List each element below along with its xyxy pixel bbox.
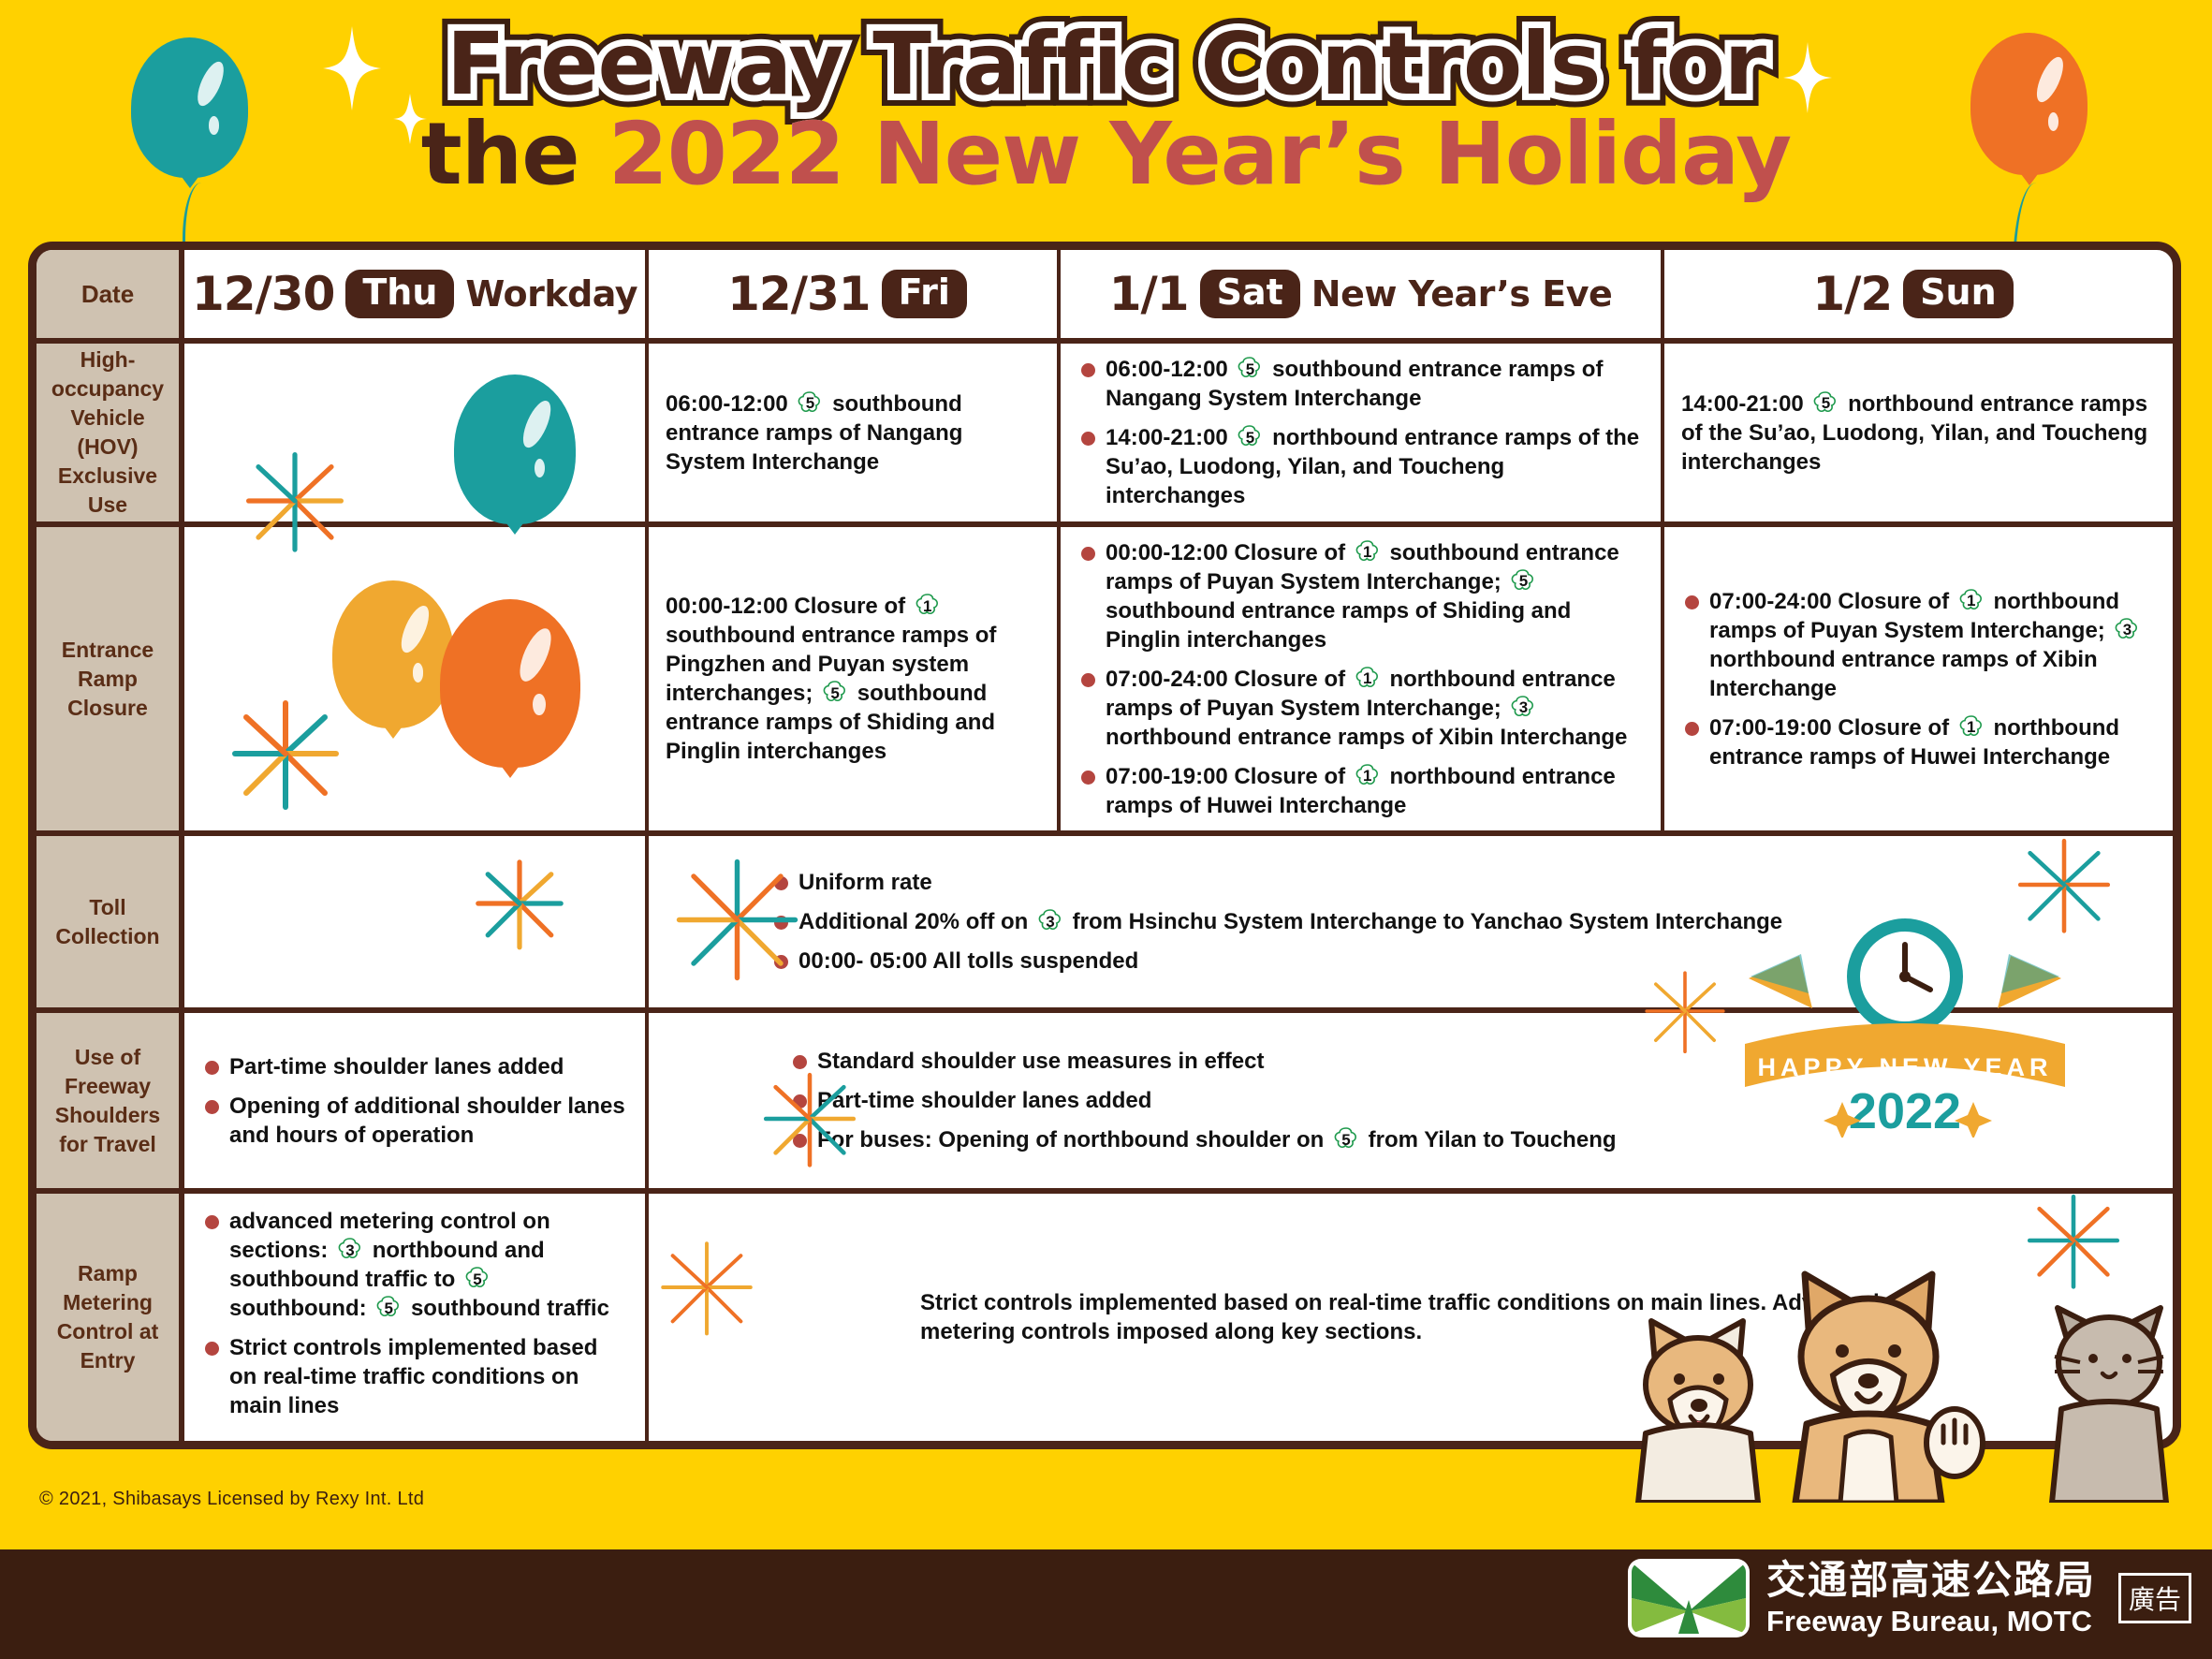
motc-logo-icon	[1628, 1559, 1750, 1637]
list-item: 07:00-24:00 Closure of 1 northbound entr…	[1077, 665, 1644, 752]
col-date-4: 1/2	[1812, 267, 1892, 321]
col-date-3: 1/1	[1109, 267, 1189, 321]
list-item: Strict controls implemented based on rea…	[201, 1333, 628, 1420]
list-item: 07:00-19:00 Closure of 1 northbound entr…	[1077, 762, 1644, 820]
freeway-badge-5: 5	[1811, 390, 1839, 417]
ad-label: 廣告	[2118, 1573, 2191, 1623]
sparkle-icon	[323, 26, 381, 110]
freeway-badge-1: 1	[1957, 588, 1985, 614]
balloon-orange-top	[1970, 33, 2087, 175]
cell-hov-0101: 06:00-12:00 5 southbound entrance ramps …	[1061, 344, 1664, 521]
agency-name-en: Freeway Bureau, MOTC	[1766, 1607, 2096, 1636]
ny-ribbon-text: HAPPY NEW YEAR	[1757, 1053, 2052, 1081]
agency-name: 交通部高速公路局 Freeway Bureau, MOTC	[1766, 1561, 2096, 1636]
list-item: Uniform rate	[770, 868, 2146, 897]
cat-mascot	[2052, 1308, 2166, 1503]
row-label-shoulders: Use of Freeway Shoulders for Travel	[37, 1013, 184, 1188]
list-item: advanced metering control on sections: 3…	[201, 1207, 628, 1323]
list-item: 07:00-19:00 Closure of 1 northbound entr…	[1681, 713, 2156, 771]
freeway-badge-3: 3	[2113, 617, 2141, 643]
happy-new-year-badge: HAPPY NEW YEAR 2022	[1722, 903, 2087, 1138]
freeway-badge-1: 1	[1957, 714, 1985, 741]
col-header-3: 1/1 Sat New Year’s Eve	[1061, 250, 1664, 338]
corgi-mascot	[1638, 1321, 1758, 1503]
freeway-badge-1: 1	[1354, 539, 1382, 565]
table-row-hov: High-occupancy Vehicle (HOV) Exclusive U…	[37, 344, 2173, 527]
ny-year-text: 2022	[1849, 1083, 1961, 1138]
balloon-teal-mid	[454, 374, 576, 524]
list-item: Opening of additional shoulder lanes and…	[201, 1092, 628, 1150]
sparkle-icon	[1783, 42, 1832, 113]
freeway-badge-3: 3	[1509, 695, 1537, 721]
list-item: 07:00-24:00 Closure of 1 northbound ramp…	[1681, 587, 2156, 703]
list-item: Part-time shoulder lanes added	[201, 1052, 628, 1081]
col-header-4: 1/2 Sun	[1664, 250, 2173, 338]
agency-name-cn: 交通部高速公路局	[1766, 1561, 2096, 1600]
freeway-badge-5: 5	[1236, 424, 1264, 450]
col-date-1: 12/30	[192, 267, 334, 321]
freeway-badge-5: 5	[1509, 568, 1537, 595]
freeway-badge-5: 5	[796, 390, 824, 417]
sparkle-icon	[393, 94, 427, 144]
title-line-2: the 2022 New Year’s Holiday	[421, 107, 1791, 202]
list-item: 00:00-12:00 Closure of 1 southbound entr…	[1077, 538, 1644, 654]
balloon-teal-top	[131, 37, 248, 178]
cell-closure-1231: 00:00-12:00 Closure of 1 southbound entr…	[649, 527, 1061, 830]
col-day-4: Sun	[1903, 270, 2013, 318]
row-label-hov: High-occupancy Vehicle (HOV) Exclusive U…	[37, 344, 184, 521]
firework-icon	[646, 1226, 768, 1353]
freeway-badge-3: 3	[336, 1237, 364, 1263]
cell-metering-1230: advanced metering control on sections: 3…	[184, 1194, 649, 1441]
col-day-1: Thu	[345, 270, 454, 318]
list-item: 00:00-12:00 Closure of 1 southbound entr…	[666, 592, 1040, 766]
title-line-2-white: the 2022 New Year’s Holiday	[421, 107, 1791, 202]
firework-icon	[215, 683, 356, 829]
freeway-badge-3: 3	[1036, 908, 1064, 934]
col-note-3: New Year’s Eve	[1311, 273, 1612, 315]
col-date-2: 12/31	[727, 267, 870, 321]
row-label-ramp-metering: Ramp Metering Control at Entry	[37, 1194, 184, 1441]
list-item: 06:00-12:00 5 southbound entrance ramps …	[1077, 355, 1644, 413]
balloon-orange-mid	[440, 599, 580, 768]
col-day-2: Fri	[882, 270, 967, 318]
title-line-1-outline: Freeway Traffic Controls for	[447, 17, 1765, 112]
cell-hov-0102: 14:00-21:00 5 northbound entrance ramps …	[1664, 344, 2173, 521]
copyright-notice: © 2021, Shibasays Licensed by Rexy Int. …	[39, 1489, 424, 1510]
col-header-1: 12/30 Thu Workday	[184, 250, 649, 338]
col-note-1: Workday	[465, 273, 637, 315]
freeway-badge-5: 5	[1332, 1126, 1360, 1152]
list-item: 06:00-12:00 5 southbound entrance ramps …	[666, 389, 1040, 477]
col-day-3: Sat	[1200, 270, 1300, 318]
mascot-group	[1629, 1259, 2172, 1503]
freeway-badge-1: 1	[1354, 666, 1382, 692]
firework-icon	[459, 843, 580, 969]
title-line-1-white: Freeway Traffic Controls for	[447, 17, 1765, 112]
freeway-badge-5: 5	[463, 1266, 491, 1292]
table-header-row: Date 12/30 Thu Workday 12/31 Fri 1/1 Sat…	[37, 250, 2173, 344]
footer-bar: 交通部高速公路局 Freeway Bureau, MOTC 廣告	[0, 1549, 2212, 1659]
cell-hov-1231: 06:00-12:00 5 southbound entrance ramps …	[649, 344, 1061, 521]
freeway-badge-1: 1	[1354, 763, 1382, 789]
shiba-mascot	[1795, 1274, 1983, 1503]
title-line-2-outline: the 2022 New Year’s Holiday	[421, 107, 1791, 202]
col-header-2: 12/31 Fri	[649, 250, 1061, 338]
row-label-date: Date	[37, 250, 184, 338]
cell-closure-0102: 07:00-24:00 Closure of 1 northbound ramp…	[1664, 527, 2173, 830]
freeway-badge-5: 5	[821, 680, 849, 706]
firework-icon	[234, 440, 356, 566]
list-item: 14:00-21:00 5 northbound entrance ramps …	[1681, 389, 2156, 477]
freeway-badge-5: 5	[374, 1295, 403, 1321]
row-label-entrance-ramp-closure: Entrance Ramp Closure	[37, 527, 184, 830]
freeway-badge-5: 5	[1236, 356, 1264, 382]
title-line-1: Freeway Traffic Controls for	[447, 17, 1765, 112]
firework-icon	[749, 1058, 871, 1184]
cell-shoulder-1230: Part-time shoulder lanes addedOpening of…	[184, 1013, 649, 1188]
list-item: 14:00-21:00 5 northbound entrance ramps …	[1077, 423, 1644, 510]
row-label-toll-collection: Toll Collection	[37, 836, 184, 1007]
cell-closure-0101: 00:00-12:00 Closure of 1 southbound entr…	[1061, 527, 1664, 830]
freeway-badge-1: 1	[914, 593, 942, 619]
firework-icon	[665, 847, 810, 997]
